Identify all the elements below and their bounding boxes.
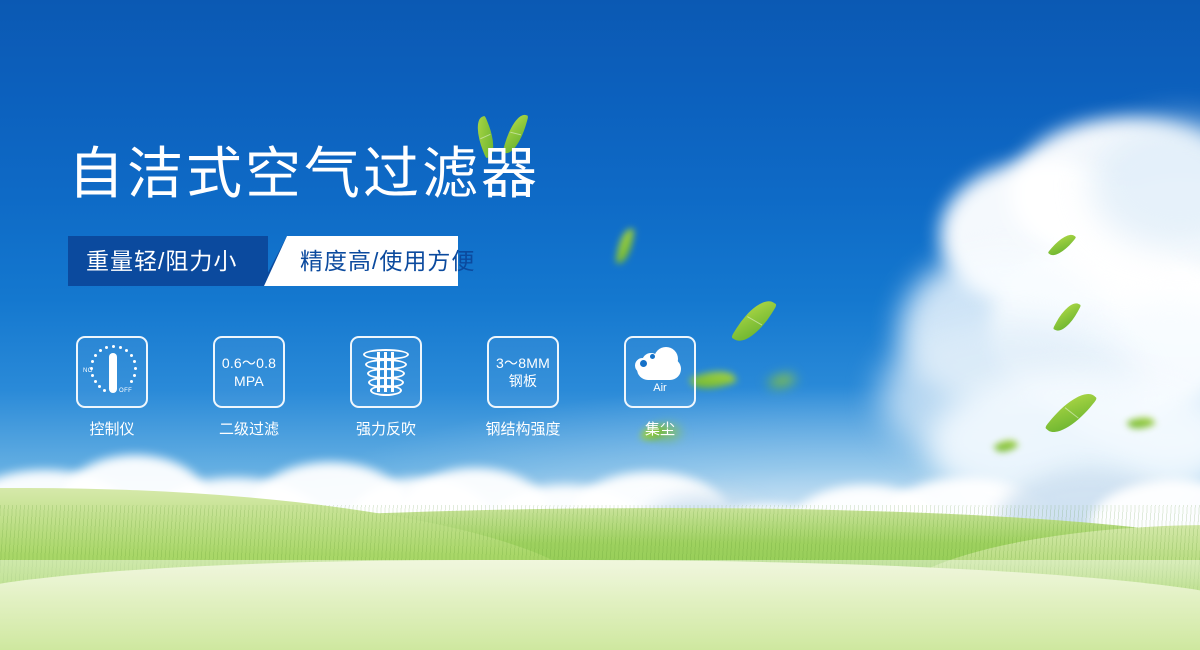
feature-item-pulse-jet[interactable]: 强力反吹 [350,336,422,408]
feature-item-dust-collection[interactable]: Air 集尘 [624,336,696,408]
gauge-label-off: OFF [119,388,132,394]
gauge-icon: NO OFF [78,338,146,406]
steel-material: 钢板 [489,372,557,390]
feature-tile: 3～8MM 钢板 [487,336,559,408]
steel-thickness: 3～8MM [489,354,557,372]
feature-item-two-stage-filter[interactable]: 0.6～0.8 MPA 二级过滤 [213,336,285,408]
feature-tile: NO OFF [76,336,148,408]
feature-label: 钢结构强度 [471,418,575,439]
hero-banner: 自洁式空气过滤器 重量轻/阻力小 精度高/使用方便 [0,0,1200,650]
subtitle-right-text: 精度高/使用方便 [300,236,475,286]
page-title: 自洁式空气过滤器 [68,143,540,205]
feature-label: 二级过滤 [197,418,301,439]
pressure-unit: MPA [215,372,283,390]
feature-label: 控制仪 [60,418,164,439]
feature-label: 集尘 [608,418,712,439]
feature-tile [350,336,422,408]
pressure-text-icon: 0.6～0.8 MPA [215,354,283,390]
feature-label: 强力反吹 [334,418,438,439]
gauge-label-no: NO [83,368,93,374]
gauge-needle [109,353,117,393]
cloud-air-icon: Air [626,338,694,406]
feature-item-controller[interactable]: NO OFF 控制仪 [76,336,148,408]
pressure-range: 0.6～0.8 [215,354,283,372]
feature-tile: Air [624,336,696,408]
steel-plate-text-icon: 3～8MM 钢板 [489,354,557,390]
subtitle-left-text: 重量轻/阻力小 [86,236,237,286]
feature-item-steel-strength[interactable]: 3～8MM 钢板 钢结构强度 [487,336,559,408]
feature-tile: 0.6～0.8 MPA [213,336,285,408]
air-label: Air [626,382,694,394]
air-blast-icon [352,338,420,406]
